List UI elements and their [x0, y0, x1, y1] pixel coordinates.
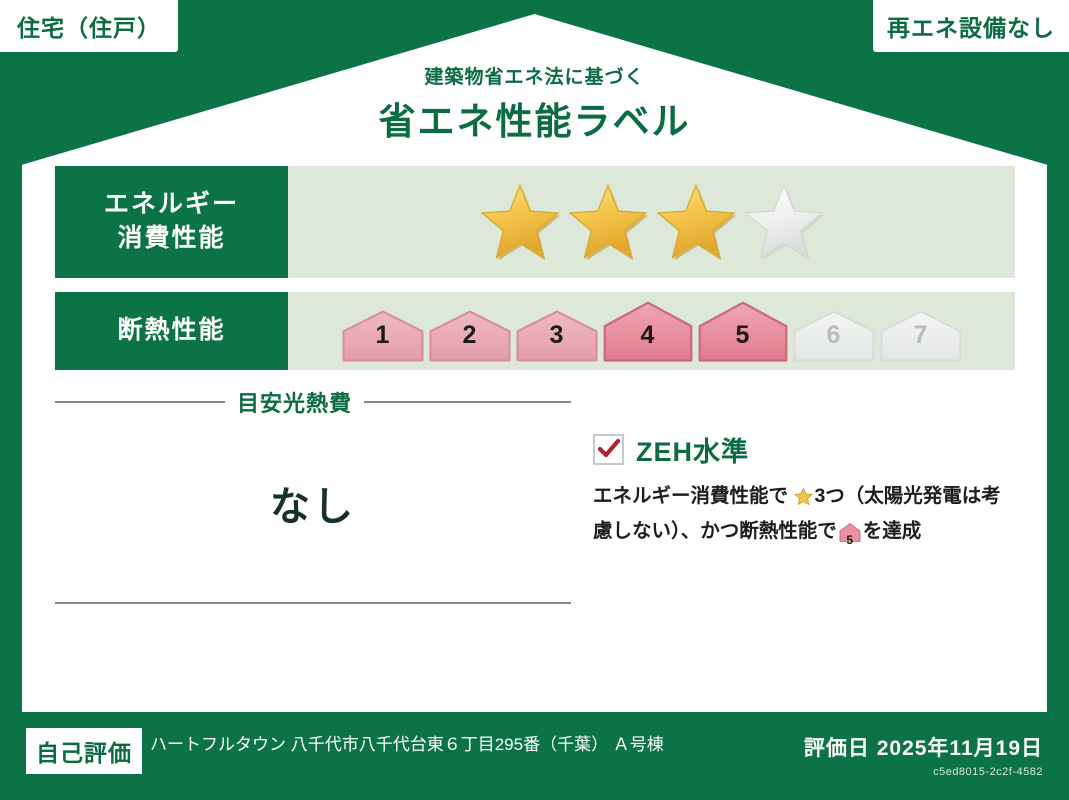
insulation-level-value: 4	[602, 321, 694, 350]
star-icon	[654, 182, 738, 262]
utility-cost-heading: 目安光熱費	[55, 386, 571, 418]
energy-performance-panel	[288, 166, 1015, 278]
label-title-block: 建築物省エネ法に基づく 省エネ性能ラベル	[0, 62, 1069, 145]
insulation-level-value: 2	[428, 321, 512, 350]
utility-cost-column: 目安光熱費 なし	[55, 386, 571, 604]
utility-cost-heading-text: 目安光熱費	[237, 386, 352, 418]
footer-left: 自己評価 ハートフルタウン 八千代市八千代台東６丁目295番（千葉） Ａ号棟	[26, 728, 804, 774]
insulation-level-value: 3	[515, 321, 599, 350]
insulation-level-value: 1	[341, 321, 425, 350]
insulation-level-value: 7	[879, 321, 963, 350]
check-icon	[593, 434, 624, 465]
label-footer: 自己評価 ハートフルタウン 八千代市八千代台東６丁目295番（千葉） Ａ号棟 評…	[0, 712, 1069, 800]
footer-right: 評価日 2025年11月19日 c5ed8015-2c2f-4582	[804, 728, 1043, 778]
self-evaluation-badge: 自己評価	[26, 728, 142, 774]
lower-section: 目安光熱費 なし ZEH水準 エネルギー消費性能で	[55, 386, 1015, 604]
renewable-equipment-badge: 再エネ設備なし	[873, 0, 1069, 52]
property-address: ハートフルタウン 八千代市八千代台東６丁目295番（千葉） Ａ号棟	[142, 728, 664, 758]
evaluation-date-value: 2025年11月19日	[877, 737, 1043, 760]
insulation-level-2: 2	[428, 309, 512, 362]
evaluation-date-label: 評価日	[804, 737, 870, 760]
zeh-desc-part1: エネルギー消費性能で	[593, 485, 788, 507]
heading-rule-right	[364, 401, 571, 403]
insulation-level-4: 4	[602, 300, 694, 362]
house-icon: 5	[839, 521, 861, 553]
utility-cost-value: なし	[55, 418, 571, 602]
insulation-level-1: 1	[341, 309, 425, 362]
building-type-badge: 住宅（住戸）	[0, 0, 178, 52]
evaluation-date: 評価日 2025年11月19日	[804, 732, 1043, 762]
label-subtitle: 建築物省エネ法に基づく	[0, 62, 1069, 89]
zeh-desc-part4: を達成	[863, 520, 922, 542]
insulation-performance-row: 断熱性能 1234567	[55, 292, 1015, 370]
utility-cost-bottom-divider	[55, 602, 571, 604]
insulation-level-6: 6	[792, 309, 876, 362]
zeh-heading: ZEH水準	[593, 430, 1015, 469]
insulation-level-7: 7	[879, 309, 963, 362]
page-title: 省エネ性能ラベル	[0, 91, 1069, 145]
insulation-level-value: 6	[792, 321, 876, 350]
insulation-performance-label-text: 断熱性能	[117, 314, 225, 348]
star-icon	[478, 182, 562, 262]
star-icon	[566, 182, 650, 262]
zeh-description: エネルギー消費性能で 3つ（太陽光発電は考慮しない）、かつ断熱性能で 5を達成	[593, 481, 1015, 553]
insulation-level-5: 5	[697, 300, 789, 362]
heading-rule-left	[55, 401, 225, 403]
evaluation-id: c5ed8015-2c2f-4582	[804, 766, 1043, 778]
insulation-level-scale: 1234567	[341, 300, 963, 362]
zeh-column: ZEH水準 エネルギー消費性能で 3つ（太陽光発電は考慮しない）、かつ断熱性能で…	[571, 386, 1015, 604]
insulation-level-3: 3	[515, 309, 599, 362]
energy-performance-row: エネルギー 消費性能	[55, 166, 1015, 278]
star-icon	[742, 182, 826, 262]
zeh-title: ZEH水準	[636, 430, 749, 469]
energy-performance-label-line1: エネルギー	[104, 188, 239, 222]
label-content: エネルギー 消費性能 断熱性能 1234567 目安光熱費	[55, 166, 1015, 604]
star-icon	[789, 489, 813, 511]
house-icon-value: 5	[839, 531, 861, 550]
insulation-performance-label: 断熱性能	[55, 292, 288, 370]
zeh-desc-part2: 3つ（太陽光発電	[814, 485, 961, 507]
energy-performance-label: エネルギー 消費性能	[55, 166, 288, 278]
insulation-performance-panel: 1234567	[288, 292, 1015, 370]
insulation-level-value: 5	[697, 321, 789, 350]
energy-performance-label: 住宅（住戸） 再エネ設備なし 建築物省エネ法に基づく 省エネ性能ラベル エネルギ…	[0, 0, 1069, 800]
energy-performance-label-line2: 消費性能	[117, 222, 225, 256]
star-rating	[478, 182, 826, 262]
